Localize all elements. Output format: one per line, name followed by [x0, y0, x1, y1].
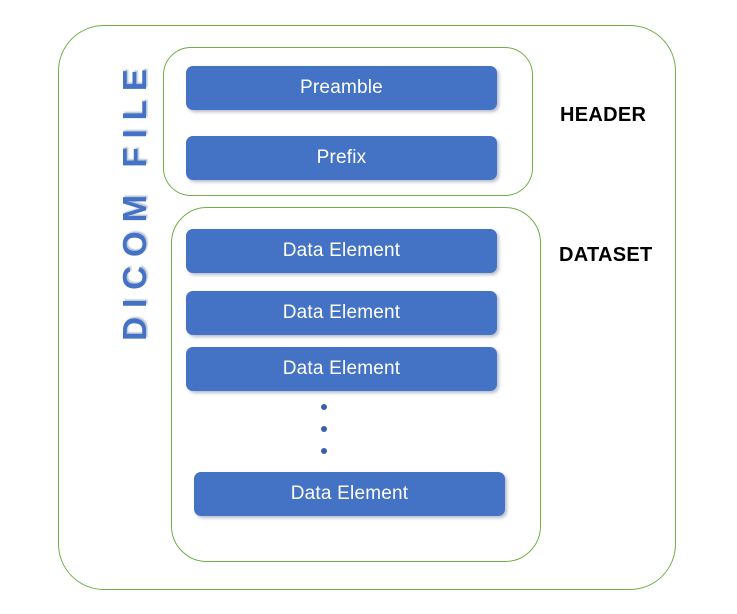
dicom-file-vertical-label: DICOM FILE [105, 10, 165, 400]
data-element-box: Data Element [186, 229, 497, 273]
header-section-label: HEADER [560, 104, 646, 127]
data-element-box: Data Element [186, 347, 497, 391]
dataset-section-label: DATASET [559, 244, 653, 267]
vertical-ellipsis-icon [321, 402, 331, 458]
preamble-box: Preamble [186, 66, 497, 110]
data-element-box: Data Element [186, 291, 497, 335]
dicom-file-diagram: DICOM FILE Preamble Prefix Data Element … [0, 0, 737, 614]
ellipsis-dot [321, 404, 327, 410]
ellipsis-dot [321, 426, 327, 432]
prefix-box: Prefix [186, 136, 497, 180]
data-element-box: Data Element [194, 472, 505, 516]
ellipsis-dot [321, 448, 327, 454]
